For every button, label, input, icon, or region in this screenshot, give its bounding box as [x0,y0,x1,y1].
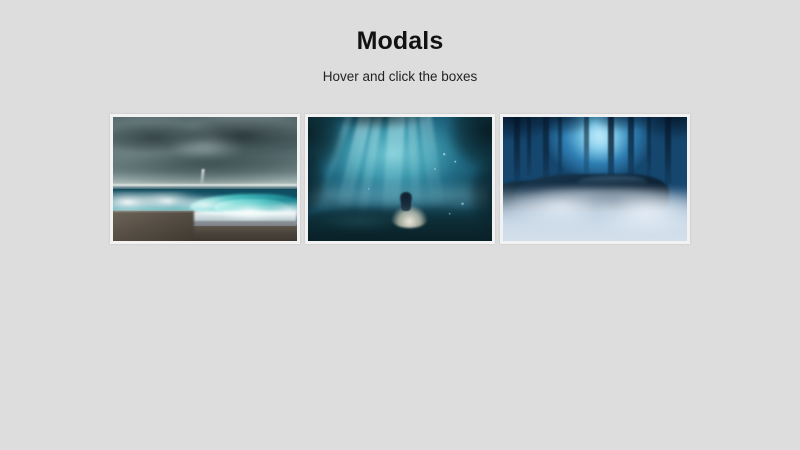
page-title: Modals [357,27,444,56]
rock-highlight [577,176,647,185]
sparkle-lights [308,117,492,241]
beach-foreground [113,211,194,241]
fog-puff [510,189,611,226]
card-gallery [110,114,690,244]
fog-puff [599,191,687,233]
modal-card-enchanted-forest[interactable] [305,114,495,244]
image-enchanted-forest [308,117,492,241]
modal-card-stormy-beach[interactable] [110,114,300,244]
page-subtitle: Hover and click the boxes [323,69,478,84]
cloud-highlight [168,137,245,159]
modals-page: Modals Hover and click the boxes [0,0,800,450]
modal-card-foggy-forest[interactable] [500,114,690,244]
image-stormy-beach [113,117,297,241]
image-foggy-forest [503,117,687,241]
canopy-silhouette [503,117,687,142]
horizon-line [113,184,297,186]
